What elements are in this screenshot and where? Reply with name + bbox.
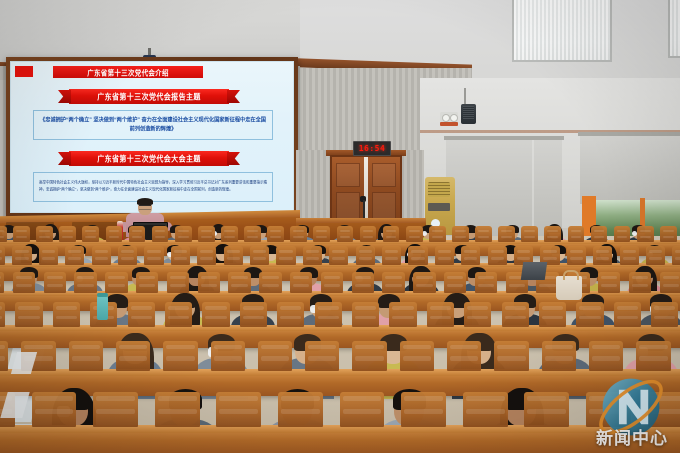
chair-slat <box>547 236 558 238</box>
chair-slat <box>15 257 28 260</box>
chair-slat <box>201 230 212 232</box>
chair-back <box>614 226 631 242</box>
chair-slat <box>318 306 339 310</box>
chair-slat <box>455 230 466 232</box>
chair-slat <box>281 396 320 401</box>
chair-slat <box>121 250 134 253</box>
chair-back <box>303 246 322 265</box>
chair-slat <box>56 316 77 320</box>
chair-slat <box>155 236 166 238</box>
chair-slat <box>663 284 679 287</box>
chair-slat <box>77 276 93 279</box>
chair-slat <box>411 250 424 253</box>
chair-slat <box>85 236 96 238</box>
chair-slat <box>438 257 451 260</box>
chair-slat <box>527 396 566 401</box>
chair-slat <box>224 230 235 232</box>
chair-slat <box>505 316 526 320</box>
chair-slat <box>147 250 160 253</box>
door-panel <box>372 163 396 187</box>
chair-slat <box>262 276 278 279</box>
chair-slat <box>39 236 50 238</box>
chair-slat <box>262 284 278 287</box>
chair-back <box>568 226 585 242</box>
chair-slat <box>542 306 563 310</box>
chair-slat <box>227 250 240 253</box>
stage-desk-right-top <box>296 218 426 223</box>
chair-slat <box>455 236 466 238</box>
chair-slat <box>96 396 135 401</box>
chair-slat <box>416 284 432 287</box>
chair-slat <box>343 409 382 414</box>
slide-ribbon-congress-theme: 广东省第十三次党代会大会主题 <box>69 151 229 166</box>
chair-back <box>0 226 7 242</box>
chair-slat <box>509 284 525 287</box>
chair-slat <box>571 230 582 232</box>
chair-slat <box>174 250 187 253</box>
slide-body-box: 高举中国特色社会主义伟大旗帜，坚持以习近平新时代中国特色社会主义思想为指导，深入… <box>33 172 273 202</box>
laptop <box>521 262 548 280</box>
chair-slat <box>450 345 478 349</box>
chair-slat <box>24 345 52 349</box>
chair-slat <box>201 284 217 287</box>
chair-back <box>488 246 507 265</box>
chair-slat <box>0 230 4 232</box>
chair-slat <box>96 409 135 414</box>
chair-slat <box>243 316 264 320</box>
chair-back <box>352 272 374 293</box>
chair-slat <box>589 409 628 414</box>
chair-slat <box>306 250 319 253</box>
chair-slat <box>542 316 563 320</box>
chair-slat <box>355 316 376 320</box>
chair-slat <box>491 257 504 260</box>
chair-slat <box>16 276 32 279</box>
chair-slat <box>270 236 281 238</box>
chair-slat <box>18 306 39 310</box>
chair-back <box>0 272 4 293</box>
chair-slat <box>654 316 675 320</box>
chair-slat <box>68 250 81 253</box>
chair-slat <box>293 230 304 232</box>
chair-slat <box>39 230 50 232</box>
chair-slat <box>497 356 525 360</box>
chair-back <box>660 272 680 293</box>
chair-back <box>175 226 192 242</box>
chair-slat <box>432 230 443 232</box>
chair-slat <box>617 306 638 310</box>
chair-slat <box>466 409 505 414</box>
slide-quote-box: 《忠诚拥护“两个确立” 坚决做到“两个维护” 奋力在全面建设社会主义现代化国家新… <box>33 110 273 140</box>
chair-slat <box>639 356 667 360</box>
chair-slat <box>617 236 628 238</box>
chair-slat <box>359 250 372 253</box>
projection-screen: 广东省第十三次党代会介绍 广东省第十三次党代会报告主题 《忠诚拥护“两个确立” … <box>10 61 294 213</box>
chair-slat <box>200 257 213 260</box>
led-clock-time: 16:54 <box>359 144 386 153</box>
chair-slat <box>545 345 573 349</box>
chair-slat <box>0 236 4 238</box>
chair-slat <box>639 345 667 349</box>
chair-slat <box>430 306 451 310</box>
vacuum-flask <box>97 296 108 320</box>
chair-slat <box>119 356 147 360</box>
chair-slat <box>675 250 680 253</box>
chair-back <box>337 226 354 242</box>
chair-slat <box>651 396 680 401</box>
chair-slat <box>343 396 382 401</box>
chair-back <box>221 226 238 242</box>
chair-slat <box>594 236 605 238</box>
window-blind-c <box>580 134 680 204</box>
chair-slat <box>467 306 488 310</box>
chair-slat <box>539 284 555 287</box>
slide-body-text: 高举中国特色社会主义伟大旗帜，坚持以习近平新时代中国特色社会主义思想为指导，深入… <box>39 180 267 193</box>
chair-slat <box>640 236 651 238</box>
chair-slat <box>594 230 605 232</box>
chair-slat <box>16 236 27 238</box>
chair-slat <box>247 230 258 232</box>
chair-slat <box>355 284 371 287</box>
chair-slat <box>579 316 600 320</box>
chair-back <box>92 246 111 265</box>
chair-slat <box>279 257 292 260</box>
chair-slat <box>224 236 235 238</box>
chair-slat <box>324 276 340 279</box>
led-clock-display: 16:54 <box>353 141 391 156</box>
chair-back <box>250 246 269 265</box>
chair-slat <box>601 276 617 279</box>
chair-slat <box>324 284 340 287</box>
chair-slat <box>392 316 413 320</box>
chair-slat <box>158 396 197 401</box>
chair-slat <box>570 250 583 253</box>
chair-slat <box>121 257 134 260</box>
chair-slat <box>308 356 336 360</box>
chair-back <box>39 246 58 265</box>
slide-corner-marker <box>15 66 33 77</box>
chair-back <box>290 272 312 293</box>
chair-back <box>167 272 189 293</box>
chair-slat <box>363 236 374 238</box>
chair-back <box>0 246 5 265</box>
chair-slat <box>623 257 636 260</box>
chair-slat <box>543 257 556 260</box>
chair-slat <box>316 230 327 232</box>
chair-slat <box>409 236 420 238</box>
chair-slat <box>632 284 648 287</box>
chair-back <box>74 272 96 293</box>
chair-back <box>36 226 53 242</box>
chair-slat <box>524 236 535 238</box>
chair-slat <box>147 257 160 260</box>
chair-back <box>544 226 561 242</box>
ac-vent-grille <box>428 182 450 197</box>
chair-slat <box>527 409 566 414</box>
chair-slat <box>385 250 398 253</box>
chair-back <box>118 246 137 265</box>
chair-slat <box>571 236 582 238</box>
chair-slat <box>85 230 96 232</box>
chair-back <box>197 246 216 265</box>
chair-slat <box>15 250 28 253</box>
chair-slat <box>464 257 477 260</box>
slide-quote-text: 《忠诚拥护“两个确立” 坚决做到“两个维护” 奋力在全面建设社会主义现代化国家新… <box>38 116 268 134</box>
chair-back <box>144 246 163 265</box>
chair-slat <box>0 356 5 360</box>
chair-slat <box>651 409 680 414</box>
window-blind-b <box>534 138 562 236</box>
chair-slat <box>95 250 108 253</box>
chair-slat <box>450 356 478 360</box>
chair-slat <box>280 316 301 320</box>
chair-back <box>406 226 423 242</box>
chair-slat <box>416 276 432 279</box>
chair-slat <box>219 396 258 401</box>
chair-back <box>171 246 190 265</box>
chair-slat <box>497 345 525 349</box>
chair-slat <box>649 257 662 260</box>
chair-slat <box>253 250 266 253</box>
chair-slat <box>166 356 194 360</box>
chair-slat <box>447 276 463 279</box>
slide-title-banner: 广东省第十三次党代会介绍 <box>53 66 203 78</box>
chair-slat <box>355 276 371 279</box>
chair-back <box>593 246 612 265</box>
chair-slat <box>501 230 512 232</box>
chair-back <box>228 272 250 293</box>
chair-slat <box>570 257 583 260</box>
chair-slat <box>359 257 372 260</box>
chair-slat <box>139 276 155 279</box>
chair-slat <box>293 284 309 287</box>
chair-slat <box>119 345 147 349</box>
chair-slat <box>543 250 556 253</box>
chair-back <box>224 246 243 265</box>
chair-slat <box>386 230 397 232</box>
chair-back <box>461 246 480 265</box>
chair-slat <box>623 250 636 253</box>
window-upper-left <box>512 0 612 62</box>
chair-slat <box>214 345 242 349</box>
chair-slat <box>663 230 674 232</box>
blind-rail-a <box>444 136 564 140</box>
chair-slat <box>47 276 63 279</box>
chair-back <box>408 246 427 265</box>
chair-back <box>620 246 639 265</box>
chair-slat <box>404 409 443 414</box>
chair-back <box>360 226 377 242</box>
chair-slat <box>132 230 143 232</box>
chair-slat <box>447 284 463 287</box>
chair-back <box>382 272 404 293</box>
chair-slat <box>596 250 609 253</box>
chair-slat <box>293 276 309 279</box>
chair-slat <box>227 257 240 260</box>
chair-back <box>429 226 446 242</box>
chair-slat <box>404 396 443 401</box>
chair-back <box>452 226 469 242</box>
chair-slat <box>131 306 152 310</box>
chair-back <box>12 246 31 265</box>
chair-slat <box>355 356 383 360</box>
chair-slat <box>243 306 264 310</box>
chair-slat <box>601 284 617 287</box>
chair-back <box>13 272 35 293</box>
glasses-icon <box>139 205 151 210</box>
chair-slat <box>62 230 73 232</box>
chair-back <box>567 246 586 265</box>
chair-slat <box>316 236 327 238</box>
chair-slat <box>517 250 530 253</box>
chair-slat <box>68 257 81 260</box>
chair-back <box>646 246 665 265</box>
chair-slat <box>478 236 489 238</box>
chair-slat <box>293 236 304 238</box>
chair-slat <box>385 257 398 260</box>
chair-slat <box>332 257 345 260</box>
ac-control-panel <box>428 203 450 211</box>
chair-back <box>65 246 84 265</box>
chair-slat <box>35 396 74 401</box>
chair-slat <box>332 250 345 253</box>
wall-speaker <box>461 104 476 124</box>
chair-back <box>44 272 66 293</box>
chair-slat <box>72 345 100 349</box>
chair-slat <box>318 316 339 320</box>
chair-slat <box>42 257 55 260</box>
chair-slat <box>108 276 124 279</box>
chair-slat <box>579 306 600 310</box>
chair-slat <box>174 257 187 260</box>
chair-slat <box>340 236 351 238</box>
chair-slat <box>77 284 93 287</box>
chair-back <box>267 226 284 242</box>
chair-back <box>276 246 295 265</box>
chair-slat <box>261 356 289 360</box>
presenter-hair <box>137 198 153 205</box>
chair-back <box>321 272 343 293</box>
chair-slat <box>16 230 27 232</box>
chair-back <box>198 226 215 242</box>
chair-slat <box>231 284 247 287</box>
chair-back <box>244 226 261 242</box>
chair-slat <box>617 230 628 232</box>
chair-slat <box>409 230 420 232</box>
chair-slat <box>72 356 100 360</box>
chair-slat <box>280 306 301 310</box>
door-panel <box>336 163 360 187</box>
chair-back <box>105 272 127 293</box>
chair-slat <box>501 236 512 238</box>
chair-back <box>498 226 515 242</box>
chair-slat <box>42 250 55 253</box>
chair-slat <box>95 257 108 260</box>
ribbon-2-text: 广东省第十三次党代会大会主题 <box>97 153 201 165</box>
chair-slat <box>281 409 320 414</box>
chair-back <box>521 226 538 242</box>
chair-slat <box>306 257 319 260</box>
chair-slat <box>589 396 628 401</box>
chair-slat <box>466 396 505 401</box>
chair-slat <box>205 316 226 320</box>
chair-slat <box>517 257 530 260</box>
chair-slat <box>675 257 680 260</box>
chair-slat <box>340 230 351 232</box>
chair-back <box>152 226 169 242</box>
chair-back <box>591 226 608 242</box>
chair-back <box>106 226 123 242</box>
chair-back <box>435 246 454 265</box>
chair-slat <box>56 306 77 310</box>
chair-slat <box>168 316 189 320</box>
chair-slat <box>524 230 535 232</box>
chair-back <box>382 246 401 265</box>
chair-back <box>136 272 158 293</box>
ribbon-1-text: 广东省第十三次党代会报告主题 <box>97 91 201 103</box>
chair-slat <box>166 345 194 349</box>
chair-slat <box>108 284 124 287</box>
chair-slat <box>592 345 620 349</box>
chair-slat <box>178 236 189 238</box>
blind-rail-b <box>578 132 680 136</box>
chair-back <box>82 226 99 242</box>
chair-slat <box>547 230 558 232</box>
chair-back <box>672 246 680 265</box>
projection-screen-frame: 广东省第十三次党代会介绍 广东省第十三次党代会报告主题 《忠诚拥护“两个确立” … <box>6 57 298 217</box>
chair-back <box>13 226 30 242</box>
emergency-light <box>440 112 458 122</box>
chair-slat <box>355 306 376 310</box>
slide-ribbon-report-topic: 广东省第十三次党代会报告主题 <box>69 89 229 104</box>
handbag-handle <box>563 270 579 280</box>
chair-slat <box>478 276 494 279</box>
chair-slat <box>200 250 213 253</box>
chair-slat <box>432 236 443 238</box>
chair-slat <box>231 276 247 279</box>
chair-slat <box>355 345 383 349</box>
chair-back <box>598 272 620 293</box>
chair-slat <box>170 276 186 279</box>
vacuum-flask-lid <box>97 293 108 297</box>
chair-slat <box>649 250 662 253</box>
chair-slat <box>279 250 292 253</box>
chair-back <box>475 226 492 242</box>
chair-slat <box>385 276 401 279</box>
chair-slat <box>403 356 431 360</box>
emergency-light-base <box>440 122 458 126</box>
chair-back <box>356 246 375 265</box>
chair-slat <box>168 306 189 310</box>
window-blind-a <box>446 138 532 238</box>
chair-slat <box>158 409 197 414</box>
chair-slat <box>18 316 39 320</box>
chair-slat <box>663 276 679 279</box>
window-upper-right <box>668 0 680 58</box>
chair-back <box>290 226 307 242</box>
chair-slat <box>201 236 212 238</box>
chair-slat <box>47 284 63 287</box>
chair-slat <box>178 230 189 232</box>
chair-slat <box>308 345 336 349</box>
chair-slat <box>663 236 674 238</box>
chair-slat <box>386 236 397 238</box>
chair-slat <box>62 236 73 238</box>
chair-back <box>413 272 435 293</box>
chair-slat <box>592 356 620 360</box>
chair-slat <box>201 276 217 279</box>
chair-slat <box>139 284 155 287</box>
